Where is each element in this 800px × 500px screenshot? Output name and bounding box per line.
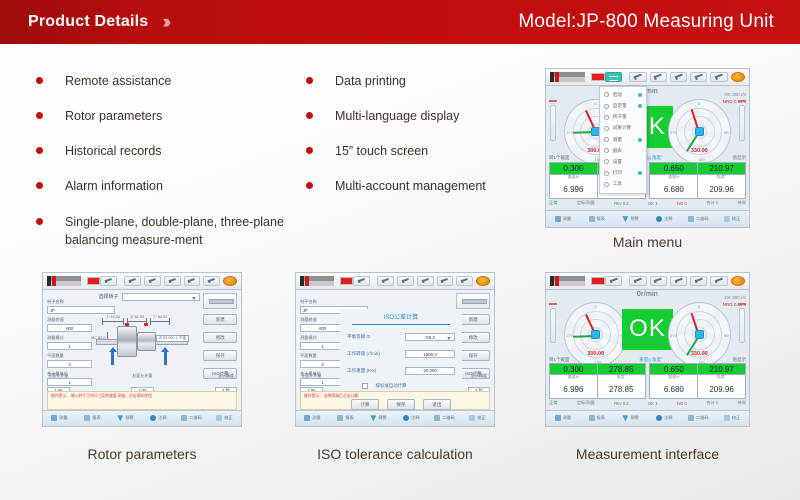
status-item: 定标/测量 (577, 200, 595, 206)
dialog-title: ISO公差计算 (384, 315, 418, 321)
screenshot-rotor-parameters: 选择转子 材子名称 JP 测量转速 600 测量模式 1 平面数量 (42, 272, 242, 427)
list-item: Data printing (306, 72, 536, 90)
menu-item-icon (604, 148, 609, 153)
dial-tick-east: 90 (724, 333, 728, 338)
power-icon[interactable] (731, 276, 745, 286)
measure-icon (555, 415, 561, 421)
list-item: Single-plane, double-plane, three-plane … (36, 213, 286, 249)
status-bar: 正常 定标/测量 Rev 0.2 OK 1 NG 0 合计 1 待命 (549, 400, 746, 406)
menu-item-icon (604, 137, 609, 142)
dimension-label-a: ⓐ 44.00 (102, 321, 124, 322)
dial-hub (695, 330, 704, 339)
rotor-icon[interactable] (629, 72, 646, 82)
note-icon (150, 415, 156, 421)
device-bottom-bar: 测量 报表 预警 注释 二维码 (296, 410, 494, 426)
menu-item-dot (638, 115, 642, 119)
device-bottom-bar: 测量 报表 预警 注释 二维码 (546, 410, 749, 426)
readout-value: 210.97 (709, 164, 733, 173)
dialog-field-row: 工作重量 (KG) 20.000 (347, 367, 455, 375)
menu-item-icon (604, 92, 609, 97)
bottom-button-label: 二维码 (696, 415, 709, 421)
qrcode-icon (181, 415, 187, 421)
dial-tick-north: 0 (698, 304, 700, 309)
device-toolbar (546, 273, 749, 290)
readout-cell: 210.97 (698, 163, 745, 174)
list-item: Alarm information (36, 177, 286, 195)
wave-icon[interactable] (690, 276, 707, 286)
menu-item[interactable]: 启动 (600, 89, 647, 100)
rotor-icon[interactable] (377, 276, 394, 286)
jp-balancer-logo (550, 276, 585, 286)
bottom-button-report[interactable]: 报表 (580, 415, 614, 421)
readout-key: 角度° (709, 175, 733, 180)
menu-icon[interactable] (353, 276, 370, 286)
dial-label-right: 330.00 (669, 148, 730, 154)
bullet-icon (36, 182, 43, 189)
chart-icon[interactable] (650, 72, 667, 82)
counter-icon[interactable] (456, 276, 473, 286)
iso-tolerance-dialog: ISO公差计算 平衡等级 G G6.3 工作转速 (r/min) 1500.0 … (340, 309, 463, 391)
readout-row-green: 0.300 278.85 (549, 363, 646, 374)
menu-icon[interactable] (605, 72, 622, 82)
bullet-icon (36, 147, 43, 154)
menu-item[interactable]: 试重计算 (600, 123, 647, 134)
rpm-readout: 0r/min (546, 88, 749, 95)
readout-value: 278.85 (609, 365, 633, 374)
readout-cell: 0.300 (550, 163, 598, 174)
readout-cell: 210.97 (698, 364, 745, 373)
tool-icon[interactable] (670, 276, 687, 286)
menu-icon[interactable] (605, 276, 622, 286)
device-bottom-bar: 测量 报表 预警 注释 二维码 (546, 210, 749, 227)
right-level-slider[interactable] (739, 308, 745, 343)
dimension-label-right: Ø 83.000 1 平面 (156, 335, 189, 342)
readout-value: 0.650 (664, 365, 684, 374)
readout-cell: 0.650 (650, 364, 698, 373)
menu-item-dot (638, 182, 642, 186)
bottom-button-label: 注释 (664, 216, 672, 222)
field-label: 测量转速 (47, 317, 93, 323)
bottom-button-report[interactable]: 报表 (580, 216, 614, 222)
device-toolbar (546, 69, 749, 86)
list-item-label: Historical records (65, 142, 162, 160)
field-group: 测量转速 600 (47, 317, 93, 332)
bottom-button-qrcode[interactable]: 二维码 (681, 216, 715, 222)
qrcode-icon (688, 415, 694, 421)
menu-item-icon (604, 104, 609, 109)
bottom-button-report[interactable]: 报表 (76, 415, 109, 421)
wave-icon[interactable] (184, 276, 201, 286)
qrcode-icon (434, 415, 440, 421)
device-toolbar (296, 273, 494, 290)
menu-icon[interactable] (100, 276, 117, 286)
list-item: Historical records (36, 142, 286, 160)
menu-item[interactable]: 转子量 (600, 112, 647, 123)
status-item: 正常 (549, 400, 557, 406)
readout-value: 209.96 (709, 185, 733, 194)
report-icon (84, 415, 90, 421)
bullet-icon (36, 112, 43, 119)
bottom-button-label: 预警 (378, 415, 386, 421)
list-item: Remote assistance (36, 72, 286, 90)
calculate-button[interactable]: 计算 (351, 399, 379, 410)
bottom-button-label: 测量 (59, 415, 67, 421)
readout-value: 6.996 (563, 185, 583, 194)
jp-balancer-logo (550, 72, 585, 82)
dimension-label-c: ⓒ 84.00 (150, 321, 170, 322)
readout-key: 角度° (709, 375, 733, 380)
bottom-button-note[interactable]: 注释 (647, 216, 681, 222)
bottom-button-label: 报表 (345, 415, 353, 421)
readout-row-white: 重量M 6.680 角度° 209.96 (649, 175, 746, 199)
china-flag-icon[interactable] (591, 73, 605, 82)
meta-line-1: OK 300 r/s (723, 294, 746, 301)
screenshot-main-menu: 0r/min OK 300 r/s NRG 0.11 s 0 90 180 27… (545, 68, 750, 228)
dial-tick-east: 90 (724, 130, 728, 135)
list-item-label: Multi-account management (335, 177, 486, 195)
list-item: 15” touch screen (306, 142, 536, 160)
meta-info: OK 300 r/s NRG 0.11 s (723, 91, 746, 105)
readout-header-left: 转1个截面 (549, 155, 570, 161)
readout-header-row: 转1个截面 重量g 角度° 值显示 (549, 357, 746, 363)
menu-item-label: 转子量 (613, 114, 627, 120)
feature-list-column-1: Remote assistance Rotor parameters Histo… (36, 72, 286, 266)
footer-label: 显示精度 (215, 373, 237, 379)
checkbox-icon[interactable] (362, 383, 368, 389)
menu-item[interactable]: 设置 (600, 156, 647, 167)
dialog-field-row: 工作转速 (r/min) 1500.0 (347, 350, 455, 358)
left-level-slider[interactable] (550, 308, 556, 343)
status-item: 合计 1 (706, 200, 718, 206)
main-dropdown-menu[interactable]: 启动 自定量 转子量 试重计算 测量 (599, 86, 648, 193)
chart-icon[interactable] (397, 276, 414, 286)
readout-cell: 角度° 209.96 (698, 375, 745, 398)
iso-screen-body: 材子名称 JP 测量转速 600 测量模式 1 平面数量 2 合计量单位 1 (296, 290, 494, 426)
readout-row-green: 0.650 210.97 (649, 363, 746, 374)
power-icon[interactable] (731, 72, 745, 82)
dial-hub (695, 127, 704, 136)
rotor-select-group: 选择转子 (98, 293, 200, 301)
bottom-button-alarm[interactable]: 预警 (614, 216, 648, 222)
field-input[interactable]: 2 (47, 360, 93, 368)
bottom-button-label: 报表 (597, 415, 605, 421)
bottom-button-label: 校正 (732, 216, 740, 222)
menu-item-label: 报表 (613, 148, 622, 154)
dialog-title-group: ISO公差计算 (340, 309, 463, 325)
china-flag-icon[interactable] (591, 277, 605, 285)
menu-item-icon (604, 126, 609, 131)
report-icon (589, 216, 595, 222)
bottom-button-alarm[interactable]: 预警 (362, 415, 395, 421)
menu-item-dot (638, 126, 642, 130)
list-item: Multi-account management (306, 177, 536, 195)
dial-tick-west: 270 (670, 130, 677, 135)
field-group: 材子名称 JP (47, 299, 93, 314)
bottom-button-measure[interactable]: 测量 (296, 415, 329, 421)
status-item: NG 0 (677, 201, 687, 206)
alarm-icon (117, 415, 123, 421)
readout-value: 0.300 (563, 365, 583, 374)
menu-item-label: 试重计算 (613, 125, 631, 131)
grade-select[interactable]: G6.3 (405, 333, 455, 341)
status-item: 合计 1 (706, 400, 718, 406)
readout-row-white: 重量M 6.680 角度° 209.96 (649, 375, 746, 399)
china-flag-icon[interactable] (340, 277, 354, 285)
bottom-button-label: 测量 (563, 415, 571, 421)
report-icon (337, 415, 343, 421)
rotor-select-dropdown[interactable] (122, 293, 200, 301)
correction-mark-2 (144, 323, 149, 326)
weight-input[interactable]: 20.000 (405, 367, 455, 375)
readout-grid: 0.300 278.85 重量M 6.996 (549, 363, 746, 398)
dimension-label-b: ⓑ 51.00 (127, 321, 146, 322)
bottom-button-qrcode[interactable]: 二维码 (681, 415, 715, 421)
footer-label: 左面允许量 (300, 373, 323, 379)
power-icon[interactable] (223, 276, 237, 286)
support-arrow-2 (164, 351, 167, 365)
status-item: Rev 0.2 (614, 401, 628, 406)
bottom-button-label: 报表 (92, 415, 100, 421)
screenshot-measurement-interface: 0r/min OK 300 r/s NRG 0.11 s 0 90 180 27… (545, 272, 750, 427)
chart-icon[interactable] (650, 276, 667, 286)
field-label: 材子名称 (300, 299, 346, 305)
status-badge-label: OK (629, 315, 666, 343)
readout-cell: 角度° 209.96 (698, 175, 745, 198)
menu-item[interactable]: 工具 (600, 179, 647, 190)
caption-iso-tolerance: ISO tolerance calculation (295, 446, 495, 462)
tool-icon[interactable] (670, 72, 687, 82)
list-item-label: 15” touch screen (335, 142, 428, 160)
right-level-slider[interactable] (739, 105, 745, 142)
exit-button[interactable]: 退出 (423, 399, 451, 410)
bottom-button-calibrate[interactable]: 校正 (461, 415, 494, 421)
readout-grid: 0.300 278.85 重量M 6.996 (549, 162, 746, 199)
caption-measurement-interface: Measurement interface (545, 446, 750, 462)
bottom-button-measure[interactable]: 测量 (546, 216, 580, 222)
alarm-icon (622, 415, 628, 421)
header-left-group: Product Details ››› (0, 13, 166, 32)
tool-icon[interactable] (164, 276, 181, 286)
menu-item-label: 测量 (613, 137, 622, 143)
caption-main-menu: Main menu (545, 234, 750, 250)
calibrate-icon (724, 415, 730, 421)
note-icon (403, 415, 409, 421)
bottom-button-note[interactable]: 注释 (395, 415, 428, 421)
bottom-button-note[interactable]: 注释 (647, 415, 681, 421)
measurement-body: 0r/min OK 300 r/s NRG 0.11 s 0 90 180 27… (546, 86, 749, 227)
menu-item[interactable]: 打印 (600, 167, 647, 178)
menu-item-label: 自定量 (613, 103, 627, 109)
bottom-button-calibrate[interactable]: 校正 (715, 415, 749, 421)
bottom-button-alarm[interactable]: 预警 (614, 415, 648, 421)
power-icon[interactable] (476, 276, 490, 286)
list-item: Rotor parameters (36, 107, 286, 125)
tool-icon[interactable] (417, 276, 434, 286)
report-icon (589, 415, 595, 421)
list-item-label: Alarm information (65, 177, 163, 195)
bottom-button-measure[interactable]: 测量 (546, 415, 580, 421)
left-level-slider[interactable] (550, 105, 556, 142)
caption-rotor-parameters: Rotor parameters (42, 446, 242, 462)
bottom-button-label: 校正 (224, 415, 232, 421)
list-item-label: Single-plane, double-plane, three-plane … (65, 213, 286, 249)
bottom-button-calibrate[interactable]: 校正 (715, 216, 749, 222)
bottom-button-label: 预警 (630, 216, 638, 222)
save-button[interactable]: 保存 (203, 350, 237, 361)
china-flag-icon[interactable] (87, 277, 101, 285)
menu-item-dot (638, 160, 642, 164)
menu-item-dot (638, 138, 642, 142)
qrcode-icon (688, 216, 694, 222)
menu-item-label: 启动 (613, 92, 622, 98)
readout-panel-right: 0.650 210.97 重量M 6.680 (649, 162, 746, 199)
counter-icon[interactable] (710, 276, 727, 286)
rotor-parameter-body: 选择转子 材子名称 JP 测量转速 600 测量模式 1 平面数量 (43, 290, 241, 426)
status-item: 待命 (738, 200, 746, 206)
dialog-title-underline (352, 324, 450, 325)
status-item: NG 0 (677, 401, 687, 406)
bullet-icon (306, 77, 313, 84)
menu-item-icon (604, 159, 609, 164)
field-label: 工作重量 (KG) (347, 368, 405, 374)
bottom-button-measure[interactable]: 测量 (43, 415, 76, 421)
status-item: OK 1 (648, 401, 658, 406)
bottom-button-label: 注释 (158, 415, 166, 421)
menu-item[interactable]: 报表 (600, 145, 647, 156)
support-arrow-1 (111, 351, 114, 365)
readout-header-right: 值显示 (732, 357, 746, 363)
menu-item[interactable]: 测量 (600, 134, 647, 145)
alarm-icon (622, 216, 628, 222)
counter-icon[interactable] (203, 276, 220, 286)
menu-item-dot (638, 93, 642, 97)
status-item: Rev 0.2 (614, 201, 628, 206)
readout-cell: 角度° 278.85 (598, 375, 645, 398)
bottom-button-label: 报表 (597, 216, 605, 222)
readout-value: 6.996 (563, 385, 583, 394)
wave-icon[interactable] (690, 72, 707, 82)
list-item-label: Multi-language display (335, 107, 459, 125)
speed-input[interactable]: 1500.0 (405, 350, 455, 358)
bottom-button-calibrate[interactable]: 校正 (208, 415, 241, 421)
menu-item[interactable]: 自定量 (600, 101, 647, 112)
dial-tick-north: 0 (595, 304, 597, 309)
readout-cell: 重量M 6.996 (550, 375, 598, 398)
counter-icon[interactable] (710, 72, 727, 82)
readout-cell: 0.650 (650, 163, 698, 174)
bullet-icon (306, 112, 313, 119)
jp-balancer-logo (47, 276, 81, 286)
footer-label: 右面允许量 (131, 373, 154, 379)
bottom-button-note[interactable]: 注释 (142, 415, 175, 421)
dial-tick-north: 0 (698, 101, 700, 106)
field-label: 材子名称 (47, 299, 93, 305)
list-item: Multi-language display (306, 107, 536, 125)
note-icon (656, 415, 662, 421)
bullet-icon (306, 147, 313, 154)
edit-button[interactable]: 修改 (203, 332, 237, 343)
readout-value: 209.96 (709, 385, 733, 394)
bottom-button-label: 注释 (664, 415, 672, 421)
bullet-icon (36, 77, 43, 84)
meta-line-1: OK 300 r/s (723, 91, 746, 98)
field-group: 平面数量 2 (47, 353, 93, 368)
measure-icon (555, 216, 561, 222)
calibrate-icon (216, 415, 222, 421)
calibrate-icon (724, 216, 730, 222)
feature-list-column-2: Data printing Multi-language display 15”… (306, 72, 536, 213)
bottom-button-label: 校正 (732, 415, 740, 421)
bullet-icon (306, 182, 313, 189)
bottom-button-qrcode[interactable]: 二维码 (175, 415, 208, 421)
readout-header-row: 转1个截面 重量g 角度° 值显示 (549, 155, 746, 161)
operation-hint: 操作提示： 输入转子几何尺寸及转速值 测量，点击保存按钮 (47, 391, 237, 410)
menu-item-dot (638, 171, 642, 175)
bottom-button-report[interactable]: 报表 (329, 415, 362, 421)
auto-calc-checkbox-row[interactable]: 按标准自动计算 (362, 383, 455, 389)
rotor-thumbnail (203, 293, 237, 309)
field-label: 平衡等级 G (347, 334, 405, 340)
readout-header-left: 转1个截面 (549, 357, 570, 363)
readout-row-white: 重量M 6.996 角度° 278.85 (549, 375, 646, 399)
wave-icon[interactable] (437, 276, 454, 286)
readout-panel-left: 0.300 278.85 重量M 6.996 (549, 363, 646, 398)
rotor-icon[interactable] (629, 276, 646, 286)
rotor-hub-small (137, 332, 155, 352)
polar-chart-right: 0 90 180 270 330.00 (668, 99, 731, 164)
menu-item-icon (604, 115, 609, 120)
bottom-button-label: 二维码 (696, 216, 709, 222)
new-button[interactable]: 新建 (203, 314, 237, 325)
jp-balancer-logo (300, 276, 334, 286)
list-item-label: Data printing (335, 72, 406, 90)
readout-value: 0.650 (664, 164, 684, 173)
menu-item-label: 打印 (613, 170, 622, 176)
bottom-button-label: 预警 (630, 415, 638, 421)
page-header: Product Details ››› Model:JP-800 Measuri… (0, 0, 800, 44)
checkbox-label: 按标准自动计算 (376, 383, 407, 389)
save-button[interactable]: 保存 (387, 399, 415, 410)
bottom-button-label: 注释 (411, 415, 419, 421)
dialog-field-row: 平衡等级 G G6.3 (347, 333, 455, 341)
readout-key: 重量M (664, 375, 684, 380)
rotor-icon[interactable] (124, 276, 141, 286)
readout-cell: 重量M 6.996 (550, 175, 598, 198)
menu-item-label: 设置 (613, 159, 622, 165)
calibrate-icon (469, 415, 475, 421)
field-label: 平面数量 (47, 353, 93, 359)
bottom-button-label: 二维码 (442, 415, 455, 421)
field-input[interactable]: JP (47, 306, 115, 314)
field-input[interactable]: 600 (47, 324, 93, 332)
bottom-button-alarm[interactable]: 预警 (109, 415, 142, 421)
menu-item-icon (604, 171, 609, 176)
readout-value: 6.680 (664, 185, 684, 194)
bottom-button-qrcode[interactable]: 二维码 (428, 415, 461, 421)
chart-icon[interactable] (144, 276, 161, 286)
readout-cell: 重量M 6.680 (650, 175, 698, 198)
readout-cell: 278.85 (598, 364, 645, 373)
screenshot-iso-tolerance: 材子名称 JP 测量转速 600 测量模式 1 平面数量 2 合计量单位 1 (295, 272, 495, 427)
field-input[interactable]: 1 (47, 342, 93, 350)
menu-item-icon (604, 182, 609, 187)
readout-row-green: 0.650 210.97 (649, 162, 746, 175)
status-badge-ok: OK (622, 309, 673, 350)
bottom-button-label: 测量 (563, 216, 571, 222)
readout-header-mid: 重量g 角度° (639, 357, 663, 363)
status-item: OK 1 (648, 201, 658, 206)
readout-panel-right: 0.650 210.97 重量M 6.680 (649, 363, 746, 398)
